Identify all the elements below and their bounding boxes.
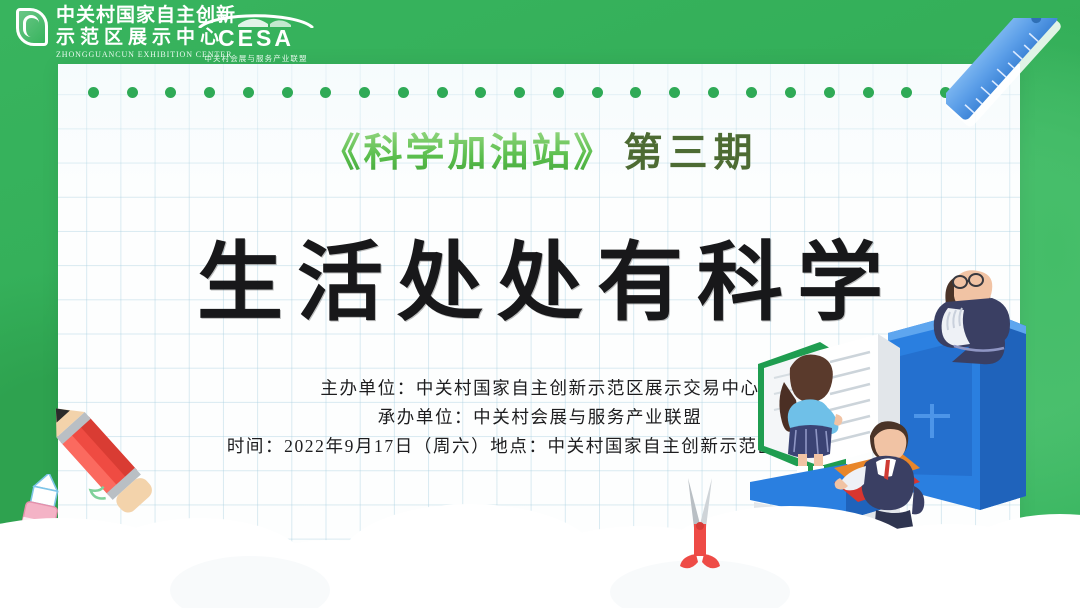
poster-canvas: 中关村国家自主创新 示范区展示中心 ZHONGGUANCUN EXHIBITIO… bbox=[0, 0, 1080, 608]
green-dot bbox=[514, 87, 525, 98]
green-dot bbox=[204, 87, 215, 98]
green-dot bbox=[553, 87, 564, 98]
white-cloud-shapes bbox=[0, 458, 1080, 608]
red-scissors-icon bbox=[660, 472, 740, 572]
green-dot bbox=[592, 87, 603, 98]
series-title: 《科学加油站》第三期 bbox=[0, 122, 1080, 178]
green-dot bbox=[901, 87, 912, 98]
green-dot-row bbox=[58, 82, 1020, 102]
zhongguancun-leaf-logo-icon bbox=[14, 6, 50, 48]
poster-header: 中关村国家自主创新 示范区展示中心 ZHONGGUANCUN EXHIBITIO… bbox=[0, 0, 1080, 60]
green-dot bbox=[127, 87, 138, 98]
green-dot bbox=[243, 87, 254, 98]
green-dot bbox=[165, 87, 176, 98]
green-dot bbox=[282, 87, 293, 98]
green-dot bbox=[708, 87, 719, 98]
green-dot bbox=[320, 87, 331, 98]
cesa-subtitle: 中关村会展与服务产业联盟 bbox=[196, 53, 316, 64]
series-title-issue: 第三期 bbox=[624, 132, 759, 175]
green-dot bbox=[630, 87, 641, 98]
green-dot bbox=[863, 87, 874, 98]
green-dot bbox=[359, 87, 370, 98]
green-dot bbox=[785, 87, 796, 98]
cesa-arc-logo-icon bbox=[196, 12, 316, 26]
cesa-logo: CESA 中关村会展与服务产业联盟 bbox=[196, 12, 316, 64]
green-dot bbox=[669, 87, 680, 98]
green-dot bbox=[398, 87, 409, 98]
green-dot bbox=[437, 87, 448, 98]
cesa-wordmark: CESA bbox=[196, 27, 316, 50]
green-dot bbox=[824, 87, 835, 98]
green-dot bbox=[88, 87, 99, 98]
green-dot bbox=[746, 87, 757, 98]
series-title-green: 《科学加油站》 bbox=[321, 132, 615, 175]
green-dot bbox=[475, 87, 486, 98]
